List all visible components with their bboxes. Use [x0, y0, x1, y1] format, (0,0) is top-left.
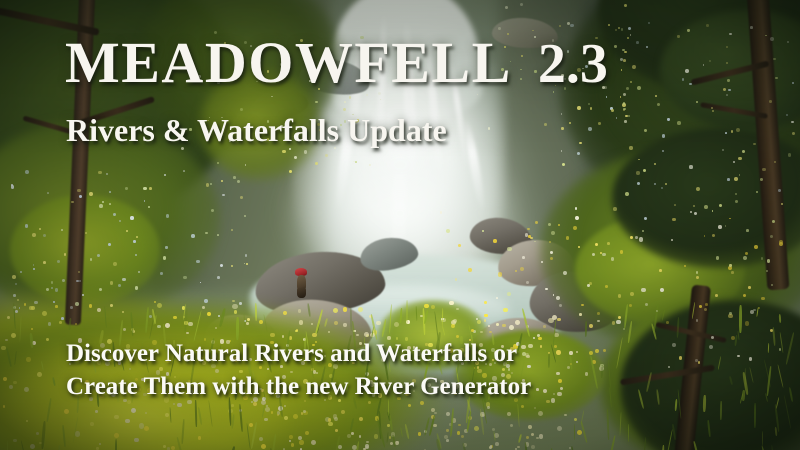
- game-title: MEADOWFELL: [65, 34, 512, 92]
- text-overlay: MEADOWFELL 2.3 Rivers & Waterfalls Updat…: [0, 0, 800, 450]
- game-key-art-banner: MEADOWFELL 2.3 Rivers & Waterfalls Updat…: [0, 0, 800, 450]
- title-row: MEADOWFELL 2.3: [65, 34, 608, 92]
- tagline-line-1: Discover Natural Rivers and Waterfalls o…: [66, 337, 531, 370]
- update-subtitle: Rivers & Waterfalls Update: [66, 113, 447, 148]
- tagline-line-2: Create Them with the new River Generator: [66, 370, 531, 403]
- version-number: 2.3: [538, 36, 608, 92]
- tagline-block: Discover Natural Rivers and Waterfalls o…: [66, 337, 531, 403]
